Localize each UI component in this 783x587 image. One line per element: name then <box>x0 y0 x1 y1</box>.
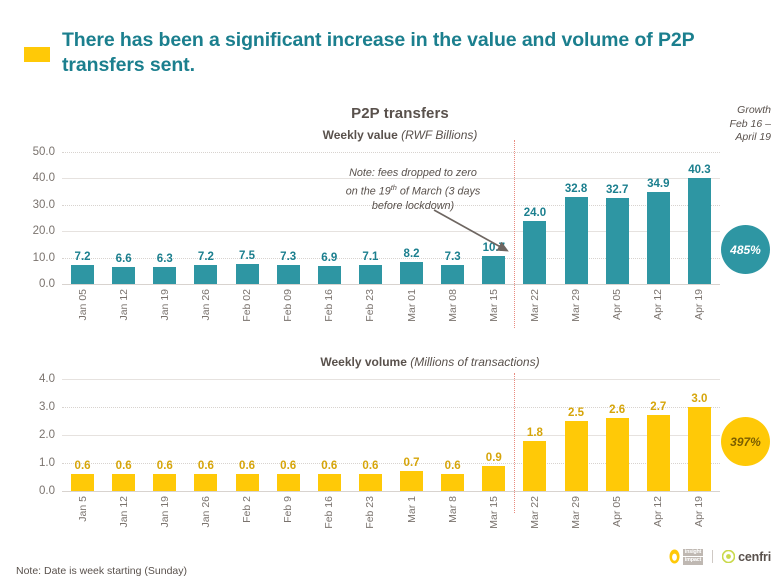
bar[interactable] <box>688 407 711 491</box>
x-axis-tick-label: Jan 5 <box>77 496 89 522</box>
bar-column[interactable]: 0.6 <box>71 379 94 491</box>
cenfri-mark-icon <box>722 550 735 563</box>
insight2impact-logo: insight impact <box>669 549 703 565</box>
cenfri-logo: cenfri <box>722 550 771 564</box>
bar-column[interactable]: 6.3 <box>153 152 176 284</box>
bar-column[interactable]: 7.5 <box>236 152 259 284</box>
weekly-volume-chart: 0.01.02.03.04.00.6Jan 50.6Jan 120.6Jan 1… <box>62 379 720 491</box>
bar-column[interactable]: 0.6 <box>359 379 382 491</box>
bottom-chart-subtitle-units: (Millions of transactions) <box>410 355 539 369</box>
bar-value-label: 0.6 <box>280 460 296 472</box>
x-axis-baseline <box>62 284 720 285</box>
x-axis-tick-label: Jan 26 <box>200 496 212 528</box>
bottom-chart-subtitle: Weekly volume (Millions of transactions) <box>270 355 590 369</box>
slide-header: There has been a significant increase in… <box>0 14 783 76</box>
top-chart-title-block: P2P transfers Weekly value (RWF Billions… <box>250 105 550 142</box>
x-axis-tick-label: Feb 23 <box>364 496 376 529</box>
bar-value-label: 2.6 <box>609 404 625 416</box>
x-axis-tick-label: Apr 19 <box>693 289 705 320</box>
bar[interactable] <box>318 474 341 491</box>
growth-header-line-1: Growth <box>701 104 771 118</box>
bar[interactable] <box>359 474 382 491</box>
x-axis-tick-label: Mar 29 <box>570 289 582 322</box>
growth-header-line-2: Feb 16 – <box>701 118 771 132</box>
i2i-logo-line-1: insight <box>683 549 703 557</box>
bar-value-label: 6.3 <box>157 253 173 265</box>
i2i-drop-icon <box>669 549 680 564</box>
bar-column[interactable]: 2.7 <box>647 379 670 491</box>
bar-column[interactable]: 3.0 <box>688 379 711 491</box>
bar-value-label: 32.7 <box>606 184 628 196</box>
bar[interactable] <box>400 471 423 491</box>
bar-value-label: 7.3 <box>280 251 296 263</box>
bottom-chart-title-block: Weekly volume (Millions of transactions) <box>270 355 590 369</box>
bar-column[interactable]: 24.0 <box>523 152 546 284</box>
bar[interactable] <box>112 267 135 284</box>
bar[interactable] <box>153 474 176 491</box>
y-axis-tick-label: 40.0 <box>33 172 55 184</box>
bar[interactable] <box>153 267 176 284</box>
bar-value-label: 7.2 <box>198 251 214 263</box>
bar-value-label: 0.6 <box>445 460 461 472</box>
x-axis-tick-label: Feb 16 <box>323 289 335 322</box>
x-axis-tick-label: Feb 09 <box>282 289 294 322</box>
bar[interactable] <box>647 192 670 284</box>
x-axis-tick-label: Feb 23 <box>364 289 376 322</box>
y-axis-tick-label: 0.0 <box>39 278 55 290</box>
x-axis-tick-label: Apr 12 <box>652 289 664 320</box>
x-axis-tick-label: Jan 12 <box>118 289 130 321</box>
bar-value-label: 0.6 <box>321 460 337 472</box>
bar[interactable] <box>688 178 711 284</box>
y-axis-tick-label: 2.0 <box>39 429 55 441</box>
y-axis-tick-label: 20.0 <box>33 225 55 237</box>
logo-divider <box>712 550 713 563</box>
page-title: There has been a significant increase in… <box>62 28 752 78</box>
x-axis-tick-label: Jan 12 <box>118 496 130 528</box>
bar-value-label: 24.0 <box>524 207 546 219</box>
i2i-logo-text: insight impact <box>683 549 703 565</box>
bar-column[interactable]: 0.6 <box>194 379 217 491</box>
top-chart-subtitle-bold: Weekly value <box>323 128 398 142</box>
bar[interactable] <box>647 415 670 491</box>
top-chart-subtitle: Weekly value (RWF Billions) <box>250 128 550 142</box>
slide-root: There has been a significant increase in… <box>0 0 783 587</box>
bar-column[interactable]: 32.8 <box>565 152 588 284</box>
bar[interactable] <box>606 418 629 491</box>
bottom-chart-subtitle-bold: Weekly volume <box>320 355 406 369</box>
bar[interactable] <box>482 256 505 284</box>
bar-value-label: 1.8 <box>527 427 543 439</box>
bar[interactable] <box>277 265 300 284</box>
x-axis-tick-label: Mar 15 <box>488 289 500 322</box>
bar[interactable] <box>318 266 341 284</box>
bar-value-label: 7.5 <box>239 250 255 262</box>
bar-column[interactable]: 0.6 <box>153 379 176 491</box>
header-bullet-icon <box>24 47 50 62</box>
growth-header-line-3: April 19 <box>701 131 771 145</box>
bar-value-label: 0.7 <box>404 457 420 469</box>
bar[interactable] <box>606 198 629 284</box>
bar-value-label: 6.9 <box>321 252 337 264</box>
x-axis-tick-label: Feb 2 <box>241 496 253 523</box>
x-axis-tick-label: Apr 19 <box>693 496 705 527</box>
bar[interactable] <box>400 262 423 284</box>
y-axis-tick-label: 50.0 <box>33 146 55 158</box>
top-chart-subtitle-units: (RWF Billions) <box>401 128 477 142</box>
footer-note: Note: Date is week starting (Sunday) <box>16 565 187 577</box>
bar[interactable] <box>441 474 464 491</box>
bar-value-label: 0.6 <box>239 460 255 472</box>
footer-logos: insight impact cenfri <box>669 549 771 565</box>
bar-value-label: 0.9 <box>486 452 502 464</box>
bar[interactable] <box>359 265 382 284</box>
x-axis-tick-label: Jan 26 <box>200 289 212 321</box>
bar-column[interactable]: 0.6 <box>236 379 259 491</box>
bar-column[interactable]: 2.6 <box>606 379 629 491</box>
bar-value-label: 34.9 <box>647 178 669 190</box>
bar-column[interactable]: 0.9 <box>482 379 505 491</box>
bar[interactable] <box>565 197 588 284</box>
bar-value-label: 40.3 <box>688 164 710 176</box>
x-axis-tick-label: Mar 15 <box>488 496 500 529</box>
bar-value-label: 0.6 <box>157 460 173 472</box>
bar[interactable] <box>277 474 300 491</box>
bar[interactable] <box>236 474 259 491</box>
bar-value-label: 0.6 <box>116 460 132 472</box>
bar-column[interactable]: 7.2 <box>71 152 94 284</box>
bar[interactable] <box>523 221 546 284</box>
x-axis-tick-label: Mar 08 <box>447 289 459 322</box>
x-axis-tick-label: Jan 05 <box>77 289 89 321</box>
bar-value-label: 7.1 <box>362 251 378 263</box>
y-axis-tick-label: 0.0 <box>39 485 55 497</box>
bar-column[interactable]: 34.9 <box>647 152 670 284</box>
x-axis-tick-label: Apr 05 <box>611 289 623 320</box>
bar-column[interactable]: 0.6 <box>318 379 341 491</box>
bar-value-label: 0.6 <box>198 460 214 472</box>
bar[interactable] <box>112 474 135 491</box>
x-axis-baseline <box>62 491 720 492</box>
x-axis-tick-label: Mar 22 <box>529 496 541 529</box>
bar-value-label: 8.2 <box>404 248 420 260</box>
bar[interactable] <box>71 474 94 491</box>
bar[interactable] <box>194 265 217 284</box>
bar-value-label: 32.8 <box>565 183 587 195</box>
y-axis-tick-label: 1.0 <box>39 457 55 469</box>
bar[interactable] <box>194 474 217 491</box>
growth-badge-value: 485% <box>721 225 770 274</box>
bar-column[interactable]: 0.7 <box>400 379 423 491</box>
bar[interactable] <box>482 466 505 491</box>
i2i-logo-line-2: impact <box>683 557 703 565</box>
x-axis-tick-label: Mar 01 <box>406 289 418 322</box>
bar-value-label: 7.2 <box>75 251 91 263</box>
x-axis-tick-label: Jan 19 <box>159 496 171 528</box>
bar[interactable] <box>71 265 94 284</box>
annotation-line-2: on the 19th of March (3 days <box>306 181 520 199</box>
bar-column[interactable]: 0.6 <box>277 379 300 491</box>
bar[interactable] <box>523 441 546 491</box>
bar-value-label: 2.5 <box>568 407 584 419</box>
bar-column[interactable]: 1.8 <box>523 379 546 491</box>
x-axis-tick-label: Mar 29 <box>570 496 582 529</box>
bar-column[interactable]: 40.3 <box>688 152 711 284</box>
y-axis-tick-label: 10.0 <box>33 252 55 264</box>
x-axis-tick-label: Feb 9 <box>282 496 294 523</box>
x-axis-tick-label: Mar 1 <box>406 496 418 523</box>
growth-badge-volume: 397% <box>721 417 770 466</box>
growth-column-header: Growth Feb 16 – April 19 <box>701 104 771 145</box>
y-axis-tick-label: 3.0 <box>39 401 55 413</box>
bar-column[interactable]: 7.3 <box>277 152 300 284</box>
bar-value-label: 3.0 <box>691 393 707 405</box>
bar[interactable] <box>441 265 464 284</box>
bar-column[interactable]: 32.7 <box>606 152 629 284</box>
chart-main-title: P2P transfers <box>250 105 550 122</box>
bar-value-label: 2.7 <box>650 401 666 413</box>
x-axis-tick-label: Apr 05 <box>611 496 623 527</box>
bar-value-label: 0.6 <box>362 460 378 472</box>
bar[interactable] <box>565 421 588 491</box>
bar-column[interactable]: 2.5 <box>565 379 588 491</box>
bar[interactable] <box>236 264 259 284</box>
x-axis-tick-label: Feb 02 <box>241 289 253 322</box>
bar-column[interactable]: 0.6 <box>112 379 135 491</box>
y-axis-tick-label: 4.0 <box>39 373 55 385</box>
cenfri-logo-text: cenfri <box>738 550 771 564</box>
y-axis-tick-label: 30.0 <box>33 199 55 211</box>
x-axis-tick-label: Mar 22 <box>529 289 541 322</box>
bar-column[interactable]: 7.2 <box>194 152 217 284</box>
x-axis-tick-label: Feb 16 <box>323 496 335 529</box>
bar-value-label: 0.6 <box>75 460 91 472</box>
x-axis-tick-label: Jan 19 <box>159 289 171 321</box>
x-axis-tick-label: Apr 12 <box>652 496 664 527</box>
annotation-arrow-icon <box>432 206 518 258</box>
x-axis-tick-label: Mar 8 <box>447 496 459 523</box>
bar-value-label: 6.6 <box>116 253 132 265</box>
annotation-line-1: Note: fees dropped to zero <box>306 166 520 181</box>
bar-column[interactable]: 6.6 <box>112 152 135 284</box>
period-divider-line <box>514 373 515 513</box>
bar-column[interactable]: 0.6 <box>441 379 464 491</box>
